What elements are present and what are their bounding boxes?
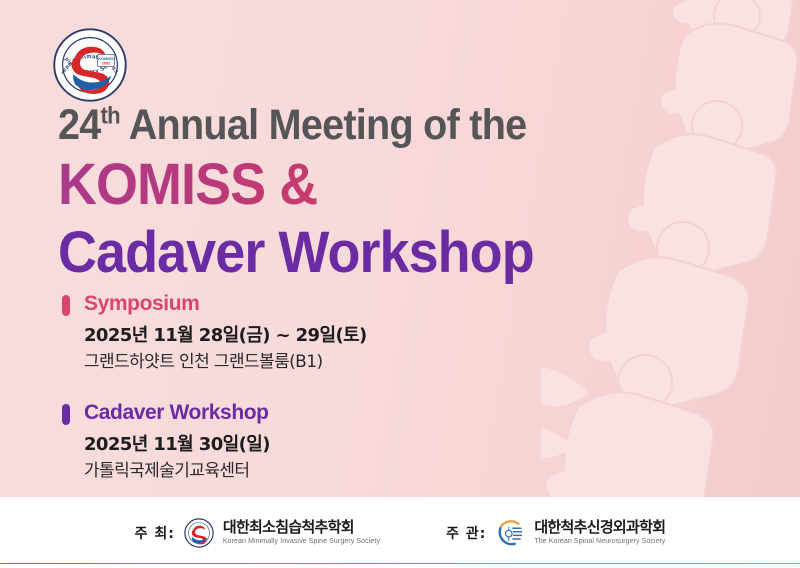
meeting-ordinal-suffix: th xyxy=(101,103,120,130)
meeting-ordinal-number: 24 xyxy=(58,101,101,149)
poster-footer: 주 최: 대한최소침습척추학회 Korean Minimally Invasiv… xyxy=(0,497,800,568)
event-sections: Symposium 2025년 11월 28일(금) ~ 29일(토) 그랜드하… xyxy=(62,292,367,497)
bottom-gradient-rule xyxy=(0,563,800,565)
headline-line-1: 24th Annual Meeting of the xyxy=(58,100,610,150)
supervisor-label: 주 관: xyxy=(446,523,486,543)
supervisor-name-korean: 대한척추신경외과학회 xyxy=(534,519,665,536)
conference-poster: Korean Minimally Invasive Spine Surgery … xyxy=(0,0,800,568)
supervisor-names: 대한척추신경외과학회 The Korean Spinal Neurosurger… xyxy=(534,519,665,547)
organizer-host: 주 최: 대한최소침습척추학회 Korean Minimally Invasiv… xyxy=(135,518,380,548)
headline-komiss: KOMISS & xyxy=(58,152,616,218)
organizer-supervisor: 주 관: 대한척추신경외과학회 The Korean Spinal xyxy=(446,518,665,548)
cadaver-workshop-accent-bar xyxy=(62,404,70,425)
poster-headline: 24th Annual Meeting of the KOMISS & Cada… xyxy=(58,100,658,286)
host-label: 주 최: xyxy=(135,523,175,543)
cadaver-workshop-venue: 가톨릭국제술기교육센터 xyxy=(62,460,367,483)
cadaver-workshop-title: Cadaver Workshop xyxy=(62,401,367,425)
host-name-korean: 대한최소침습척추학회 xyxy=(223,519,380,536)
cadaver-workshop-date: 2025년 11월 30일(일) xyxy=(62,433,367,457)
section-symposium: Symposium 2025년 11월 28일(금) ~ 29일(토) 그랜드하… xyxy=(62,292,367,374)
symposium-venue: 그랜드하얏트 인천 그랜드볼룸(B1) xyxy=(62,351,367,374)
symposium-date: 2025년 11월 28일(금) ~ 29일(토) xyxy=(62,324,367,348)
komiss-society-emblem: Korean Minimally Invasive Spine Surgery … xyxy=(52,27,128,103)
poster-hero-panel: Korean Minimally Invasive Spine Surgery … xyxy=(0,0,800,497)
symposium-accent-bar xyxy=(62,295,70,316)
komiss-footer-logo xyxy=(184,518,214,548)
headline-cadaver-workshop: Cadaver Workshop xyxy=(58,220,616,286)
symposium-title: Symposium xyxy=(62,292,367,316)
section-cadaver-workshop: Cadaver Workshop 2025년 11월 30일(일) 가톨릭국제술… xyxy=(62,401,367,483)
host-name-english: Korean Minimally Invasive Spine Surgery … xyxy=(223,537,380,547)
supervisor-name-english: The Korean Spinal Neurosurgery Society xyxy=(534,537,665,547)
meeting-title-rest: Annual Meeting of the xyxy=(120,101,526,149)
ksns-footer-logo xyxy=(495,518,525,548)
host-names: 대한최소침습척추학회 Korean Minimally Invasive Spi… xyxy=(223,519,380,547)
svg-text:2002: 2002 xyxy=(102,61,112,66)
